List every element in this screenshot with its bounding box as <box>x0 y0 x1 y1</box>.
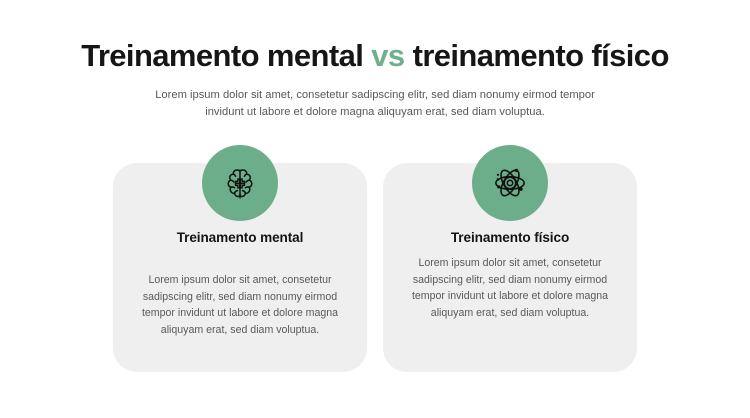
slide-canvas: Treinamento mental vs treinamento físico… <box>0 0 750 418</box>
page-subtitle: Lorem ipsum dolor sit amet, consetetur s… <box>150 87 600 121</box>
page-title-part-one: Treinamento mental <box>81 38 371 73</box>
card-treinamento-mental[interactable]: Treinamento mental Lorem ipsum dolor sit… <box>113 163 367 372</box>
page-title-vs-accent: vs <box>371 38 404 73</box>
brain-icon <box>219 162 261 204</box>
comparison-cards: Treinamento mental Lorem ipsum dolor sit… <box>113 163 637 372</box>
card-body-mental: Lorem ipsum dolor sit amet, consetetur s… <box>129 272 351 338</box>
card-treinamento-fisico[interactable]: Treinamento físico Lorem ipsum dolor sit… <box>383 163 637 372</box>
atom-icon-badge <box>472 145 548 221</box>
brain-icon-badge <box>202 145 278 221</box>
card-title-fisico: Treinamento físico <box>405 229 615 247</box>
card-title-mental: Treinamento mental <box>135 229 345 247</box>
atom-icon <box>489 162 531 204</box>
page-title: Treinamento mental vs treinamento físico <box>0 38 750 74</box>
page-title-part-two: treinamento físico <box>405 38 669 73</box>
card-body-fisico: Lorem ipsum dolor sit amet, consetetur s… <box>399 255 621 321</box>
